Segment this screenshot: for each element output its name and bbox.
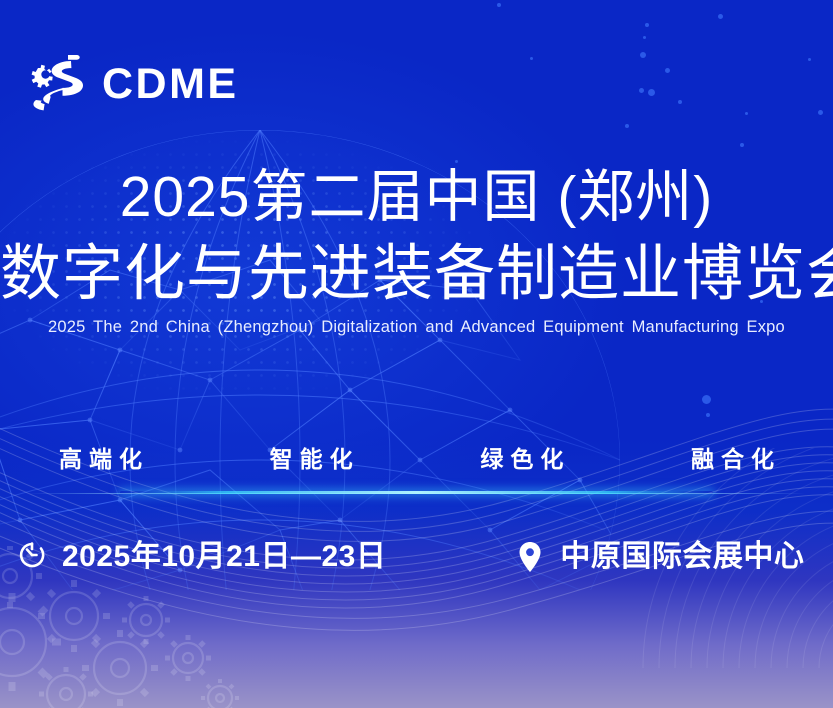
gear-s-monogram-icon xyxy=(24,52,86,116)
keyword-item: 高端化 xyxy=(52,440,149,474)
title-block: 2025第二届中国 (郑州) 数字化与先进装备制造业博览会 2025 The 2… xyxy=(0,160,833,338)
event-date-text: 2025年10月21日—23日 xyxy=(62,538,386,576)
keyword-item: 智能化 xyxy=(263,440,360,474)
event-venue: 中原国际会展中心 xyxy=(514,538,804,576)
brand-wordmark: CDME xyxy=(102,63,239,106)
brand-logo[interactable]: CDME xyxy=(24,52,239,116)
expo-banner: CDME 2025第二届中国 (郑州) 数字化与先进装备制造业博览会 2025 … xyxy=(0,0,833,708)
keyword-item: 绿色化 xyxy=(473,440,570,474)
glow-divider-line xyxy=(0,489,833,497)
title-english: 2025 The 2nd China (Zhengzhou) Digitaliz… xyxy=(0,316,833,338)
event-info-row: 2025年10月21日—23日 中原国际会展中心 xyxy=(10,538,823,576)
clock-icon xyxy=(16,539,48,575)
title-line-1: 2025第二届中国 (郑州) xyxy=(0,160,833,234)
location-pin-icon xyxy=(514,539,546,575)
concentric-arc-lines xyxy=(463,448,833,708)
keyword-list: 高端化 智能化 绿色化 融合化 xyxy=(52,440,781,474)
keyword-item: 融合化 xyxy=(684,440,781,474)
divider-glow-core xyxy=(120,491,713,494)
event-venue-text: 中原国际会展中心 xyxy=(560,538,804,576)
title-line-2: 数字化与先进装备制造业博览会 xyxy=(0,234,833,312)
event-date: 2025年10月21日—23日 xyxy=(16,538,386,576)
